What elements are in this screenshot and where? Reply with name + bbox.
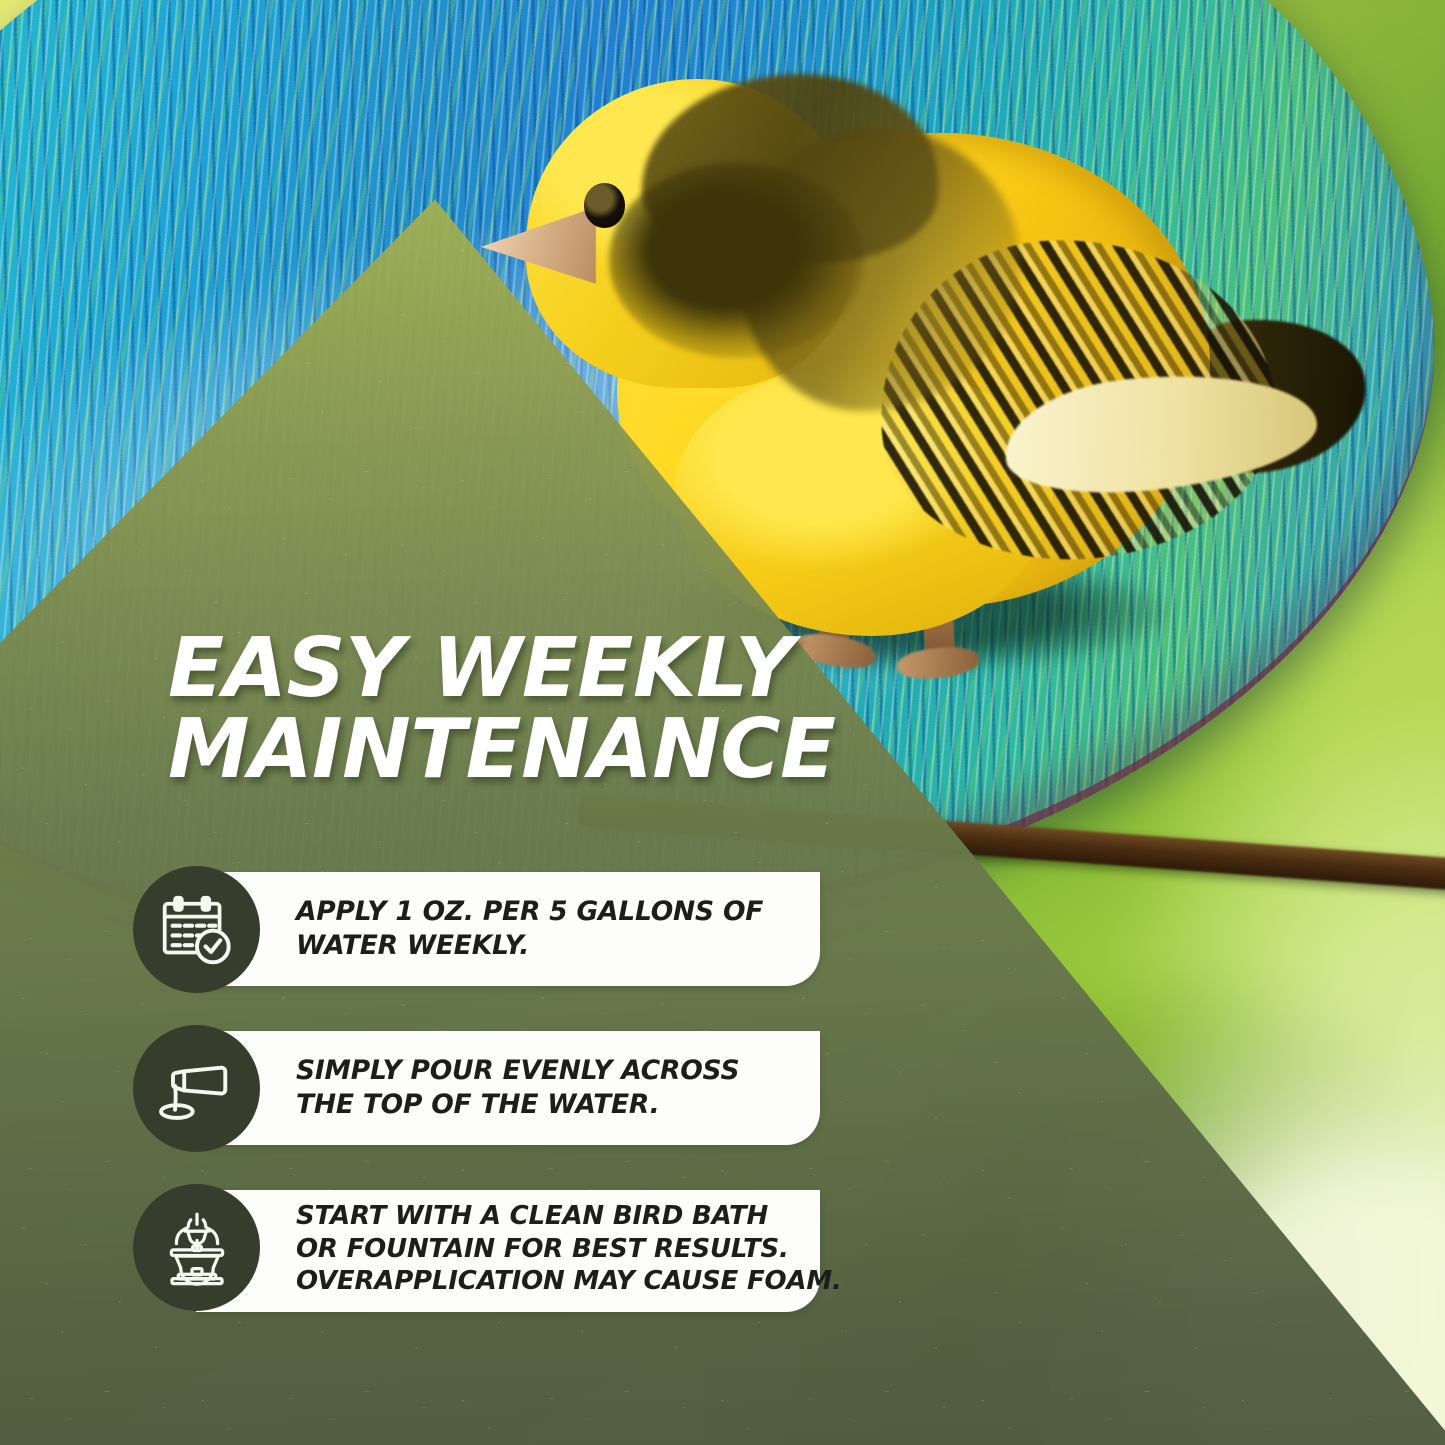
list-item[interactable]: START WITH A CLEAN BIRD BATH OR FOUNTAIN… [0,1184,1445,1314]
pouring-bottle-icon [133,1025,260,1152]
content-layer: EASY WEEKLY MAINTENANCE [0,0,1445,1445]
steps-list: APPLY 1 OZ. PER 5 GALLONS OF WATER WEEKL… [0,866,1445,1314]
step-text: APPLY 1 OZ. PER 5 GALLONS OF WATER WEEKL… [296,866,1405,992]
calendar-check-icon [133,866,260,993]
step-text: START WITH A CLEAN BIRD BATH OR FOUNTAIN… [296,1184,1405,1314]
list-item[interactable]: APPLY 1 OZ. PER 5 GALLONS OF WATER WEEKL… [0,866,1445,992]
product-infographic: EASY WEEKLY MAINTENANCE [0,0,1445,1445]
step-text: SIMPLY POUR EVENLY ACROSS THE TOP OF THE… [296,1025,1405,1151]
fountain-icon [133,1184,260,1311]
page-title: EASY WEEKLY MAINTENANCE [168,628,868,790]
list-item[interactable]: SIMPLY POUR EVENLY ACROSS THE TOP OF THE… [0,1025,1445,1151]
